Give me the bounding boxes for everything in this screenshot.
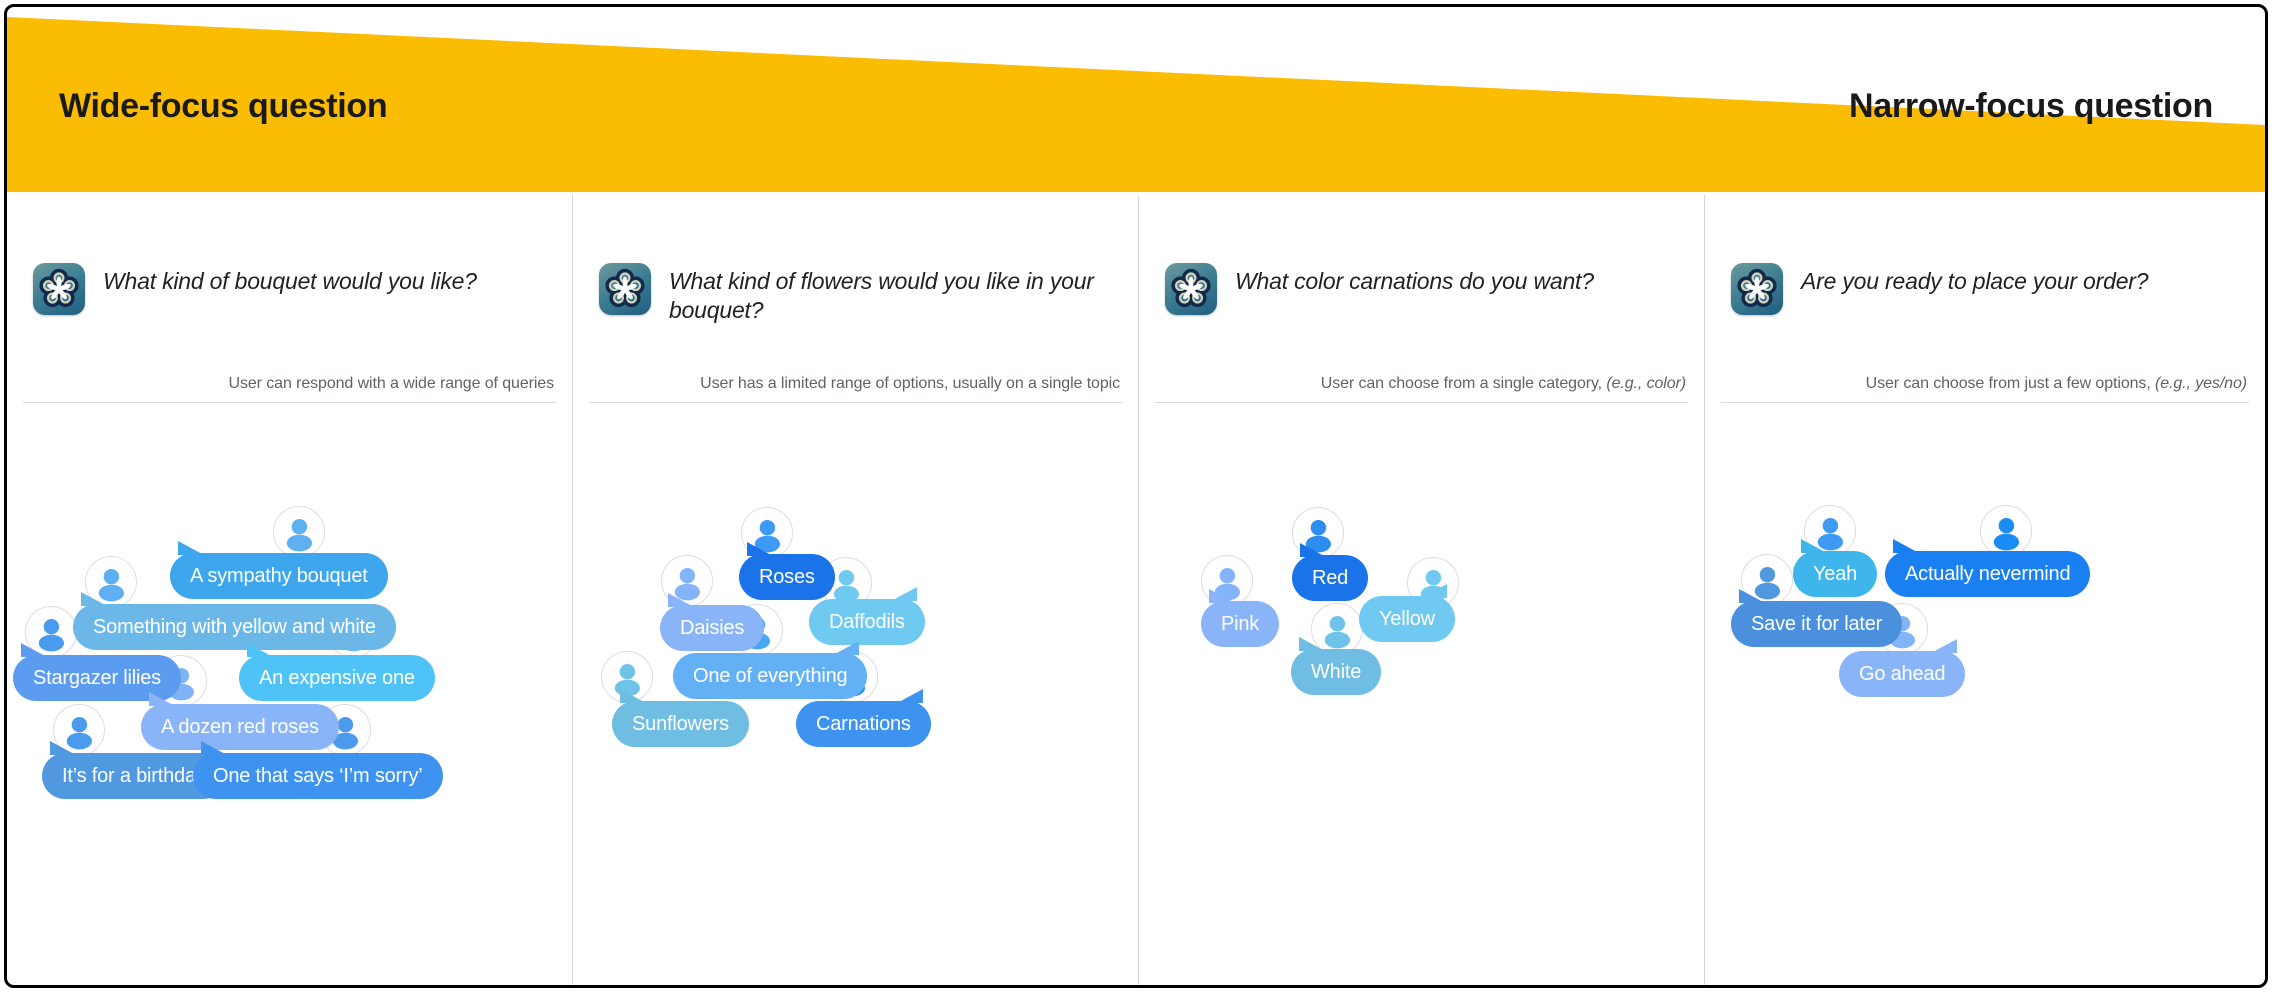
user-reply-bubble[interactable]: Go ahead — [1839, 651, 1965, 697]
user-reply-bubble[interactable]: Red — [1292, 555, 1368, 601]
bubble-tail — [1893, 539, 1919, 553]
user-reply-canvas: RosesDaisiesDaffodilsOne of everythingSu… — [573, 423, 1138, 985]
columns-container: What kind of bouquet would you like?User… — [7, 195, 2265, 985]
caption-divider — [23, 402, 556, 403]
question-column-1: What kind of bouquet would you like?User… — [7, 195, 573, 985]
wide-focus-label: Wide-focus question — [59, 87, 387, 126]
bubble-tail — [1299, 637, 1325, 651]
caption-wrapper: User has a limited range of options, usu… — [589, 375, 1122, 403]
agent-question-text: What kind of flowers would you like in y… — [669, 263, 1114, 326]
user-reply-bubble[interactable]: Daffodils — [809, 599, 925, 645]
caption-plain: User can choose from just a few options, — [1866, 375, 2155, 392]
bubble-tail — [178, 541, 204, 555]
column-caption: User can choose from a single category, … — [1155, 375, 1688, 402]
question-row: What kind of bouquet would you like? — [33, 263, 548, 315]
bubble-tail — [897, 689, 923, 703]
flower-rosette-logo-icon — [1731, 263, 1783, 315]
bubble-tail — [1931, 639, 1957, 653]
user-avatar-icon — [273, 506, 325, 558]
bubble-tail — [247, 643, 273, 657]
user-reply-bubble[interactable]: Save it for later — [1731, 601, 1902, 647]
agent-question-text: What color carnations do you want? — [1235, 263, 1594, 296]
flower-rosette-logo-icon — [599, 263, 651, 315]
user-reply-bubble[interactable]: A sympathy bouquet — [170, 553, 388, 599]
user-reply-bubble[interactable]: A dozen red roses — [141, 704, 339, 750]
page-frame: Wide-focus question Narrow-focus questio… — [4, 4, 2268, 988]
flower-rosette-logo-icon — [1165, 263, 1217, 315]
flower-rosette-logo-icon — [33, 263, 85, 315]
question-column-4: Are you ready to place your order?User c… — [1705, 195, 2265, 985]
question-row: What color carnations do you want? — [1165, 263, 1680, 315]
caption-wrapper: User can respond with a wide range of qu… — [23, 375, 556, 403]
caption-wrapper: User can choose from just a few options,… — [1721, 375, 2249, 403]
bubble-tail — [149, 692, 175, 706]
bubble-tail — [1209, 589, 1235, 603]
bubble-tail — [747, 542, 773, 556]
user-reply-bubble[interactable]: An expensive one — [239, 655, 435, 701]
caption-divider — [589, 402, 1122, 403]
user-reply-bubble[interactable]: Yeah — [1793, 551, 1877, 597]
column-caption: User has a limited range of options, usu… — [589, 375, 1122, 402]
user-reply-bubble[interactable]: Yellow — [1359, 596, 1455, 642]
bubble-tail — [81, 592, 107, 606]
caption-plain: User can choose from a single category, — [1321, 375, 1607, 392]
user-reply-canvas: RedPinkYellowWhite — [1139, 423, 1704, 985]
caption-wrapper: User can choose from a single category, … — [1155, 375, 1688, 403]
bubble-tail — [1421, 584, 1447, 598]
bubble-tail — [891, 587, 917, 601]
user-avatar-icon — [1980, 505, 2032, 557]
user-reply-bubble[interactable]: Pink — [1201, 601, 1279, 647]
user-reply-bubble[interactable]: One that says ‘I’m sorry’ — [193, 753, 443, 799]
user-reply-bubble[interactable]: Roses — [739, 554, 835, 600]
user-reply-bubble[interactable]: Sunflowers — [612, 701, 749, 747]
question-column-3: What color carnations do you want?User c… — [1139, 195, 1705, 985]
caption-divider — [1721, 402, 2249, 403]
caption-plain: User has a limited range of options, usu… — [700, 375, 1120, 392]
caption-example: (e.g., color) — [1606, 375, 1686, 392]
user-reply-bubble[interactable]: Something with yellow and white — [73, 604, 396, 650]
column-caption: User can respond with a wide range of qu… — [23, 375, 556, 402]
column-caption: User can choose from just a few options,… — [1721, 375, 2249, 402]
caption-plain: User can respond with a wide range of qu… — [229, 375, 554, 392]
agent-question-text: Are you ready to place your order? — [1801, 263, 2148, 296]
bubble-tail — [1801, 539, 1827, 553]
bubble-tail — [668, 593, 694, 607]
bubble-tail — [1739, 589, 1765, 603]
question-column-2: What kind of flowers would you like in y… — [573, 195, 1139, 985]
bubble-tail — [833, 641, 859, 655]
user-reply-bubble[interactable]: Daisies — [660, 605, 764, 651]
caption-divider — [1155, 402, 1688, 403]
question-row: Are you ready to place your order? — [1731, 263, 2241, 315]
user-reply-canvas: YeahActually nevermindSave it for laterG… — [1705, 423, 2265, 985]
bubble-tail — [201, 741, 227, 755]
user-reply-bubble[interactable]: Actually nevermind — [1885, 551, 2090, 597]
user-reply-canvas: A sympathy bouquetSomething with yellow … — [7, 423, 572, 985]
bubble-tail — [21, 643, 47, 657]
user-reply-bubble[interactable]: Carnations — [796, 701, 931, 747]
bubble-tail — [50, 741, 76, 755]
bubble-tail — [1300, 543, 1326, 557]
narrow-focus-label: Narrow-focus question — [1849, 87, 2213, 126]
user-reply-bubble[interactable]: White — [1291, 649, 1381, 695]
question-row: What kind of flowers would you like in y… — [599, 263, 1114, 326]
user-reply-bubble[interactable]: One of everything — [673, 653, 867, 699]
bubble-tail — [620, 689, 646, 703]
caption-example: (e.g., yes/no) — [2155, 375, 2247, 392]
agent-question-text: What kind of bouquet would you like? — [103, 263, 477, 296]
